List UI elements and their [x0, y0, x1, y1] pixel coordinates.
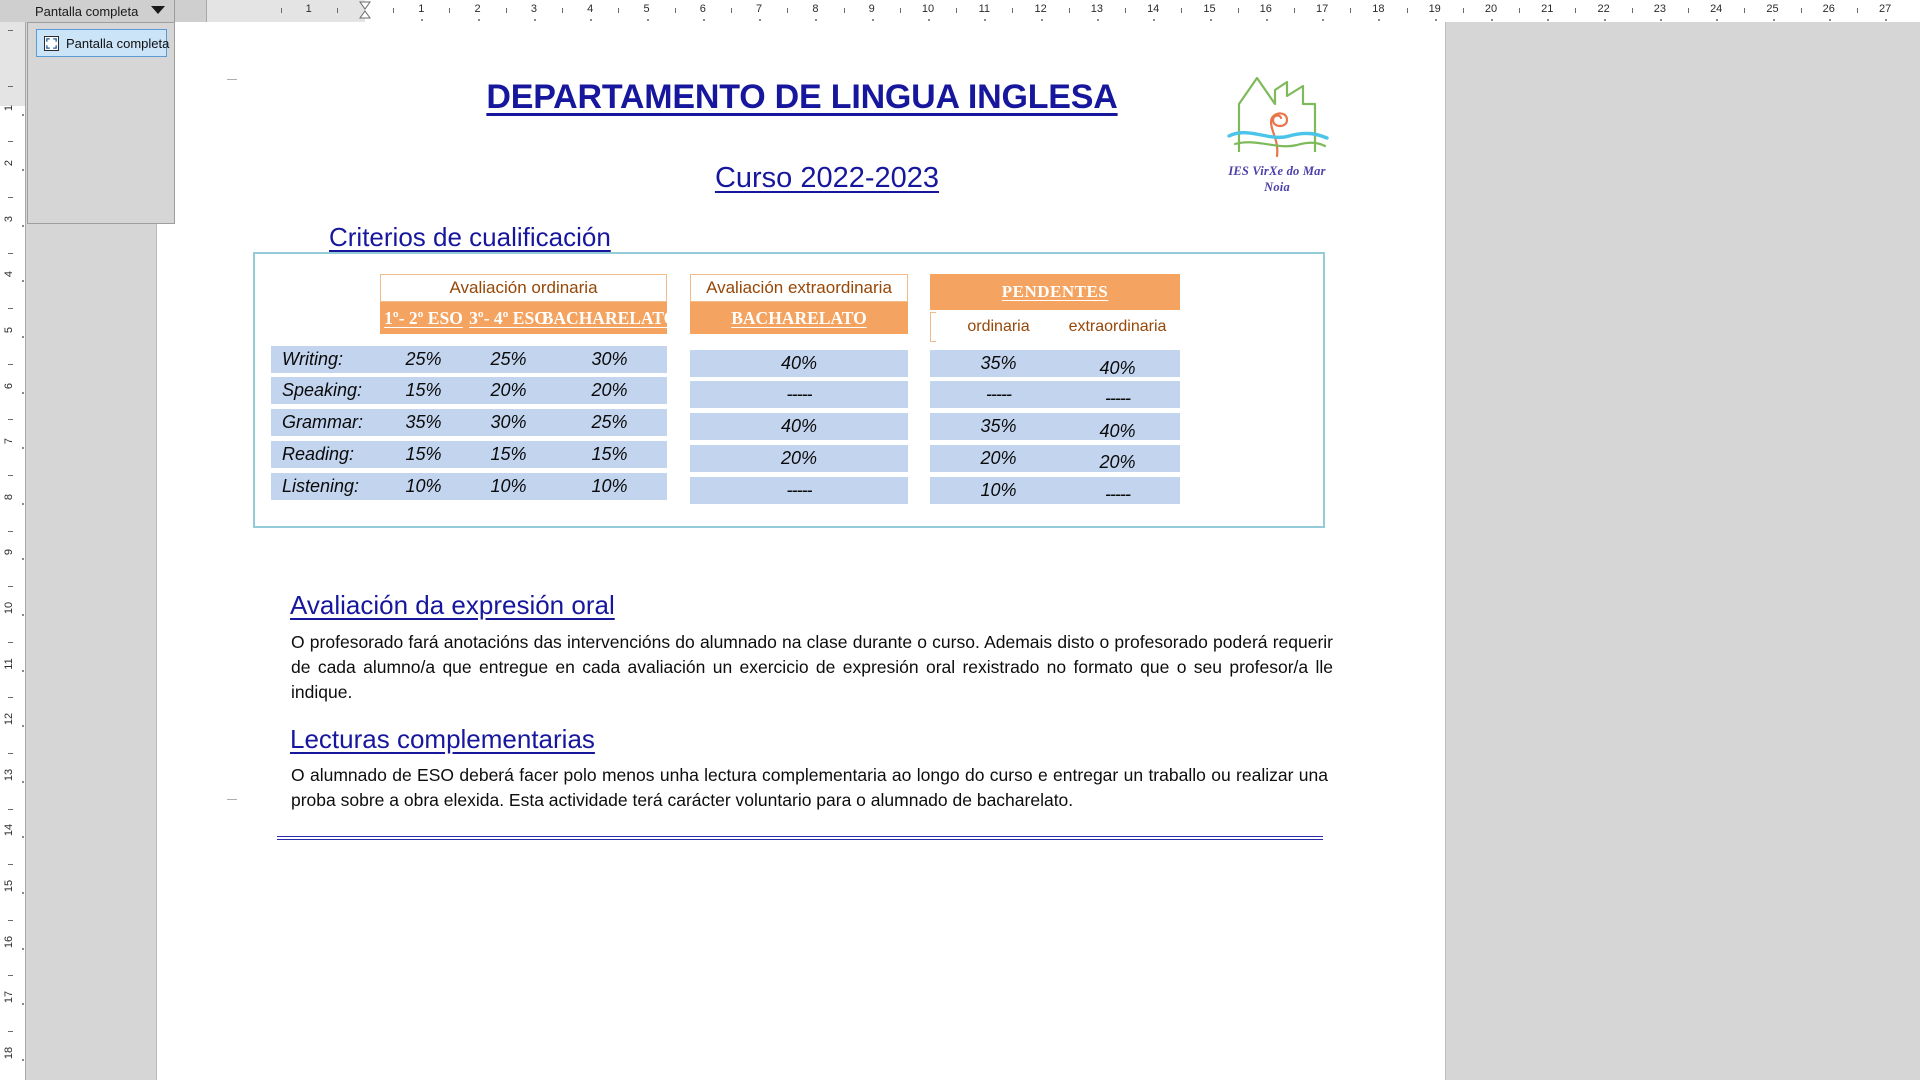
table-row-label-4: Listening: — [271, 473, 396, 500]
ruler-indent-stop[interactable] — [22, 670, 24, 672]
fullscreen-toolbar-label: Pantalla completa — [27, 4, 138, 19]
ruler-tick-label: 8 — [812, 3, 818, 15]
ruler-indent-stop[interactable] — [22, 169, 24, 171]
ruler-tick-label: 14 — [1147, 3, 1159, 15]
ruler-tick — [8, 308, 13, 309]
ruler-tick-label: 19 — [1429, 3, 1441, 15]
ruler-tick — [1181, 8, 1182, 13]
ruler-tick-label: 16 — [3, 935, 15, 947]
ruler-tick-label: 12 — [3, 713, 15, 725]
ruler-tick — [8, 864, 13, 865]
ruler-tick — [8, 531, 13, 532]
ruler-tab-stop[interactable] — [1210, 19, 1212, 21]
ruler-tick — [8, 809, 13, 810]
ruler-tick — [281, 8, 282, 13]
ruler-tick — [8, 197, 13, 198]
ruler-indent-stop[interactable] — [22, 614, 24, 616]
ruler-tick — [8, 475, 13, 476]
horizontal-ruler[interactable]: 1123456789101112131415161718192021222324… — [0, 0, 1920, 22]
ruler-indent-stop[interactable] — [22, 836, 24, 838]
table-group-header-ordinaria: Avaliación ordinaria — [380, 274, 667, 302]
table-grid: Avaliación ordinariaAvaliación extraordi… — [255, 254, 1323, 526]
ruler-tick-label: 5 — [3, 327, 15, 333]
ruler-tick — [844, 8, 845, 13]
ruler-tick — [8, 86, 13, 87]
ruler-tick — [449, 8, 450, 13]
table-cell-pendentes-2-1: 40% — [1055, 418, 1180, 445]
ruler-tick-label: 15 — [1203, 3, 1215, 15]
fullscreen-icon — [44, 36, 59, 51]
table-cell-ordinaria-2-1: 30% — [465, 409, 552, 436]
vertical-ruler[interactable]: 123456789101112131415161718 — [0, 22, 26, 1080]
ruler-tick-label: 17 — [3, 991, 15, 1003]
ruler-tab-stop[interactable] — [1378, 19, 1380, 21]
table-cell-ordinaria-1-0: 15% — [380, 377, 467, 404]
ruler-tick — [8, 920, 13, 921]
ruler-tick — [1575, 8, 1576, 13]
table-cell-ordinaria-0-1: 25% — [465, 346, 552, 373]
ruler-tick — [1744, 8, 1745, 13]
ruler-tab-stop[interactable] — [815, 19, 817, 21]
ruler-tick-label: 20 — [1485, 3, 1497, 15]
table-cell-ordinaria-0-2: 30% — [552, 346, 667, 373]
ruler-tab-stop[interactable] — [703, 19, 705, 21]
ruler-tick-label: 22 — [1597, 3, 1609, 15]
ruler-tick — [337, 8, 338, 13]
logo-caption-line1: IES VirXe do Mar — [1217, 164, 1337, 180]
ruler-tick — [1407, 8, 1408, 13]
table-cell-extraordinaria-2-0: 40% — [690, 413, 908, 440]
table-row-label-1: Speaking: — [271, 377, 396, 404]
section-heading-criterios: Criterios de cualificación — [329, 222, 611, 253]
ruler-tick-label: 3 — [531, 3, 537, 15]
ruler-tab-stop[interactable] — [1041, 19, 1043, 21]
ruler-tick — [393, 8, 394, 13]
table-cell-pendentes-4-1: ----- — [1055, 481, 1180, 508]
ruler-tick — [900, 8, 901, 13]
ruler-tick — [1519, 8, 1520, 13]
ruler-tab-stop[interactable] — [1773, 19, 1775, 21]
logo-caption-line2: Noia — [1217, 180, 1337, 196]
ruler-tick — [1801, 8, 1802, 13]
ruler-indent-stop[interactable] — [22, 392, 24, 394]
ruler-tick-label: 13 — [3, 769, 15, 781]
table-subheader-ordinaria-2: BACHARELATO — [552, 302, 667, 334]
ruler-tick-label: 27 — [1879, 3, 1891, 15]
ruler-tick-label: 16 — [1260, 3, 1272, 15]
ruler-tick-label: 3 — [3, 216, 15, 222]
ruler-tick — [1069, 8, 1070, 13]
ruler-tick — [1688, 8, 1689, 13]
ruler-tab-stop[interactable] — [1322, 19, 1324, 21]
ruler-tick-label: 12 — [1034, 3, 1046, 15]
table-cell-extraordinaria-0-0: 40% — [690, 350, 908, 377]
ruler-indent-stop[interactable] — [22, 558, 24, 560]
ruler-tab-stop[interactable] — [1266, 19, 1268, 21]
table-cell-pendentes-4-0: 10% — [936, 477, 1061, 504]
section-heading-oral: Avaliación da expresión oral — [290, 590, 615, 621]
horizontal-ruler-scale[interactable]: 1123456789101112131415161718192021222324… — [206, 0, 1920, 22]
document-canvas[interactable]: IES VirXe do Mar Noia DEPARTAMENTO DE LI… — [26, 22, 1920, 1080]
document-body: IES VirXe do Mar Noia DEPARTAMENTO DE LI… — [157, 22, 1447, 1080]
table-cell-ordinaria-4-0: 10% — [380, 473, 467, 500]
table-cell-ordinaria-2-0: 35% — [380, 409, 467, 436]
ruler-tick-label: 2 — [475, 3, 481, 15]
table-cell-ordinaria-3-1: 15% — [465, 441, 552, 468]
ruler-tick — [1125, 8, 1126, 13]
ruler-tick-label: 11 — [3, 658, 15, 669]
ruler-tick-label: 4 — [3, 271, 15, 277]
paragraph-oral: O profesorado fará anotacións das interv… — [291, 630, 1333, 705]
ruler-tick — [1294, 8, 1295, 13]
ruler-tick-label: 1 — [3, 105, 15, 111]
table-cell-ordinaria-3-0: 15% — [380, 441, 467, 468]
fullscreen-toolbar[interactable]: Pantalla completa — [27, 0, 175, 22]
ruler-tick-label: 9 — [3, 549, 15, 555]
ruler-tick-label: 15 — [3, 880, 15, 892]
ruler-tick — [1632, 8, 1633, 13]
ruler-tick-label: 24 — [1710, 3, 1722, 15]
ruler-tab-stop[interactable] — [478, 19, 480, 21]
ruler-tick-label: 8 — [3, 494, 15, 500]
ruler-tick-label: 14 — [3, 824, 15, 836]
ruler-tab-stop[interactable] — [1660, 19, 1662, 21]
ruler-tick-label: 18 — [3, 1047, 15, 1059]
table-cell-pendentes-1-1: ----- — [1055, 385, 1180, 412]
ruler-tab-stop[interactable] — [872, 19, 874, 21]
section-heading-lecturas: Lecturas complementarias — [290, 724, 595, 755]
ruler-tab-stop[interactable] — [1829, 19, 1831, 21]
ruler-tick-label: 6 — [700, 3, 706, 15]
ruler-tick — [675, 8, 676, 13]
table-cell-pendentes-3-1: 20% — [1055, 449, 1180, 476]
ruler-tab-stop[interactable] — [1435, 19, 1437, 21]
table-cell-pendentes-3-0: 20% — [936, 445, 1061, 472]
ruler-indent-stop[interactable] — [22, 948, 24, 950]
table-cell-pendentes-1-0: ----- — [936, 381, 1061, 408]
ruler-tick — [787, 8, 788, 13]
ruler-tab-stop[interactable] — [1604, 19, 1606, 21]
ruler-tick-label: 10 — [922, 3, 934, 15]
ruler-tick — [956, 8, 957, 13]
ruler-tick-label: 2 — [3, 160, 15, 166]
page-title: DEPARTAMENTO DE LINGUA INGLESA — [357, 78, 1247, 117]
ruler-indent-stop[interactable] — [22, 336, 24, 338]
ruler-tick-label: 7 — [756, 3, 762, 15]
ruler-tick-label: 5 — [643, 3, 649, 15]
ruler-tab-stop[interactable] — [1491, 19, 1493, 21]
ruler-tick-label: 6 — [3, 383, 15, 389]
table-cell-ordinaria-2-2: 25% — [552, 409, 667, 436]
ruler-indent-stop[interactable] — [22, 280, 24, 282]
ruler-tick — [1238, 8, 1239, 13]
ruler-indent-stop[interactable] — [22, 225, 24, 227]
table-cell-ordinaria-4-2: 10% — [552, 473, 667, 500]
page-subtitle: Curso 2022-2023 — [587, 162, 1067, 195]
ruler-indent-stop[interactable] — [22, 114, 24, 116]
ruler-left-margin — [207, 0, 365, 22]
logo-caption: IES VirXe do Mar Noia — [1217, 164, 1337, 195]
ruler-tick — [1350, 8, 1351, 13]
ruler-tab-stop[interactable] — [928, 19, 930, 21]
ruler-tick — [8, 642, 13, 643]
ruler-tick-label: 23 — [1654, 3, 1666, 15]
ruler-indent-stop[interactable] — [22, 1059, 24, 1061]
ruler-tab-stop[interactable] — [1885, 19, 1887, 21]
ruler-tick-label: 4 — [587, 3, 593, 15]
horizontal-divider-rule — [277, 836, 1323, 840]
ruler-tick — [618, 8, 619, 13]
ruler-tick — [8, 30, 13, 31]
ruler-tick — [8, 586, 13, 587]
ruler-tick — [8, 364, 13, 365]
ruler-tick-label: 9 — [869, 3, 875, 15]
ruler-tab-stop[interactable] — [759, 19, 761, 21]
fullscreen-menu-item-label: Pantalla completa — [66, 36, 169, 51]
table-cell-extraordinaria-1-0: ----- — [690, 381, 908, 408]
table-cell-ordinaria-0-0: 25% — [380, 346, 467, 373]
ruler-tab-stop[interactable] — [534, 19, 536, 21]
hourglass-indent-icon[interactable] — [359, 1, 371, 19]
ruler-tick — [731, 8, 732, 13]
ruler-tick-label: 7 — [3, 438, 15, 444]
table-cell-ordinaria-1-1: 20% — [465, 377, 552, 404]
ruler-tick-label: 21 — [1541, 3, 1553, 15]
table-subheader-pendentes-1: extraordinaria — [1055, 312, 1180, 342]
ruler-tab-stop[interactable] — [421, 19, 423, 21]
ruler-tick — [506, 8, 507, 13]
table-row-label-3: Reading: — [271, 441, 396, 468]
ruler-tick — [1857, 8, 1858, 13]
ruler-indent-stop[interactable] — [22, 447, 24, 449]
table-group-header-pendentes: PENDENTES — [930, 274, 1180, 310]
ruler-tick — [8, 753, 13, 754]
ruler-tick — [8, 697, 13, 698]
document-page[interactable]: IES VirXe do Mar Noia DEPARTAMENTO DE LI… — [156, 22, 1446, 1080]
ruler-tick-label: 11 — [979, 3, 990, 15]
ruler-tick — [8, 141, 13, 142]
table-subheader-pendentes-0: ordinaria — [936, 312, 1061, 342]
ruler-tab-stop[interactable] — [1097, 19, 1099, 21]
ruler-tick-label: 1 — [418, 3, 424, 15]
ruler-tick-label: 25 — [1766, 3, 1778, 15]
table-cell-pendentes-0-1: 40% — [1055, 355, 1180, 382]
ruler-indent-stop[interactable] — [22, 892, 24, 894]
ruler-tab-stop[interactable] — [647, 19, 649, 21]
table-cell-pendentes-2-0: 35% — [936, 413, 1061, 440]
table-cell-ordinaria-1-2: 20% — [552, 377, 667, 404]
table-cell-pendentes-0-0: 35% — [936, 350, 1061, 377]
ruler-tick-label: 1 — [306, 3, 312, 15]
ruler-tick — [562, 8, 563, 13]
ruler-tab-stop[interactable] — [984, 19, 986, 21]
ruler-tick — [8, 419, 13, 420]
table-subheader-extraordinaria-0: BACHARELATO — [690, 302, 908, 334]
paragraph-lecturas: O alumnado de ESO deberá facer polo meno… — [291, 763, 1328, 813]
ruler-tab-stop[interactable] — [1716, 19, 1718, 21]
ruler-indent-stop[interactable] — [22, 781, 24, 783]
ruler-indent-stop[interactable] — [22, 1003, 24, 1005]
ruler-tick-label: 13 — [1091, 3, 1103, 15]
table-cell-ordinaria-4-1: 10% — [465, 473, 552, 500]
ruler-tab-stop[interactable] — [1547, 19, 1549, 21]
ruler-indent-stop[interactable] — [22, 725, 24, 727]
ruler-tab-stop[interactable] — [1153, 19, 1155, 21]
table-group-header-extraordinaria: Avaliación extraordinaria — [690, 274, 908, 302]
ruler-indent-stop[interactable] — [22, 503, 24, 505]
ruler-tick — [1463, 8, 1464, 13]
ruler-tick — [8, 975, 13, 976]
table-cell-extraordinaria-3-0: 20% — [690, 445, 908, 472]
ruler-tick — [1012, 8, 1013, 13]
table-subheader-ordinaria-0: 1º- 2º ESO — [380, 302, 467, 334]
ruler-tick-label: 26 — [1823, 3, 1835, 15]
table-row-label-2: Grammar: — [271, 409, 396, 436]
ruler-tick — [8, 253, 13, 254]
ruler-tick — [8, 1031, 13, 1032]
grading-criteria-table: Avaliación ordinariaAvaliación extraordi… — [253, 252, 1325, 528]
fullscreen-toolbar-popup[interactable]: Pantalla completa — [27, 22, 175, 224]
fullscreen-menu-item[interactable]: Pantalla completa — [36, 29, 167, 57]
table-subheader-ordinaria-1: 3º- 4º ESO — [465, 302, 552, 334]
ruler-tab-stop[interactable] — [590, 19, 592, 21]
table-cell-extraordinaria-4-0: ----- — [690, 477, 908, 504]
writer-window: 1123456789101112131415161718192021222324… — [0, 0, 1920, 1080]
table-cell-ordinaria-3-2: 15% — [552, 441, 667, 468]
ruler-tick-label: 10 — [3, 602, 15, 614]
ruler-tick-label: 18 — [1372, 3, 1384, 15]
ruler-top-margin — [0, 22, 26, 106]
ruler-tick-label: 17 — [1316, 3, 1328, 15]
chevron-down-icon[interactable] — [150, 2, 166, 20]
table-row-label-0: Writing: — [271, 346, 396, 373]
